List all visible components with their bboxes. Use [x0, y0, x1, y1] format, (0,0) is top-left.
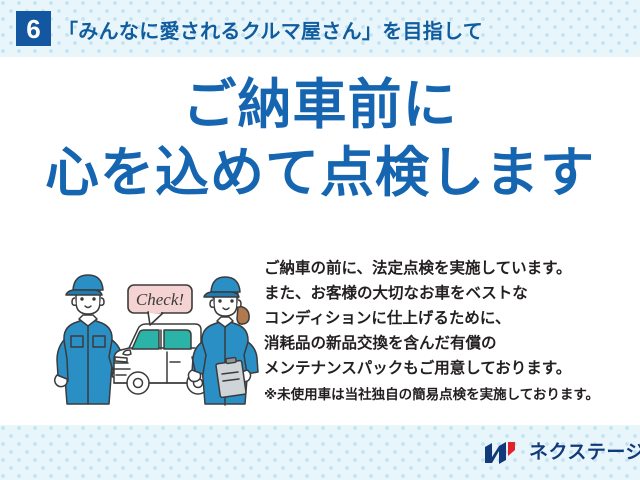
- body-line-3: コンディションに仕上げるために、: [264, 306, 624, 331]
- brand-logo: ネクステージ: [484, 441, 640, 465]
- clipboard-icon: [216, 357, 246, 397]
- body-line-5: メンテナンスパックもご用意しております。: [264, 356, 624, 381]
- headline-line-2: 心を込めて点検します: [0, 142, 640, 204]
- step-number-badge: 6: [16, 11, 51, 46]
- headline-line-1: ご納車前に: [0, 74, 640, 136]
- header-title: 「みんなに愛されるクルマ屋さん」を目指して: [58, 13, 483, 45]
- speech-bubble-text: Check!: [136, 290, 184, 309]
- page-headline: ご納車前に 心を込めて点検します: [0, 74, 640, 204]
- nextage-n-mark: [484, 441, 522, 465]
- body-note: ※未使用車は当社独自の簡易点検を実施しております。: [264, 384, 624, 406]
- body-line-1: ご納車の前に、法定点検を実施しています。: [264, 256, 624, 281]
- body-line-2: また、お客様の大切なお車をベストな: [264, 281, 624, 306]
- body-line-4: 消耗品の新品交換を含んだ有償の: [264, 331, 624, 356]
- check-speech-bubble: Check!: [128, 285, 192, 325]
- step-number-text: 6: [26, 16, 40, 42]
- brand-name: ネクステージ: [529, 441, 640, 465]
- mechanics-illustration: .ln{fill:none;stroke:#3b3b3b;stroke-widt…: [52, 262, 262, 410]
- advertisement-page: 6 「みんなに愛されるクルマ屋さん」を目指して ご納車前に 心を込めて点検します…: [0, 0, 640, 480]
- body-copy: ご納車の前に、法定点検を実施しています。 また、お客様の大切なお車をベストな コ…: [264, 256, 624, 406]
